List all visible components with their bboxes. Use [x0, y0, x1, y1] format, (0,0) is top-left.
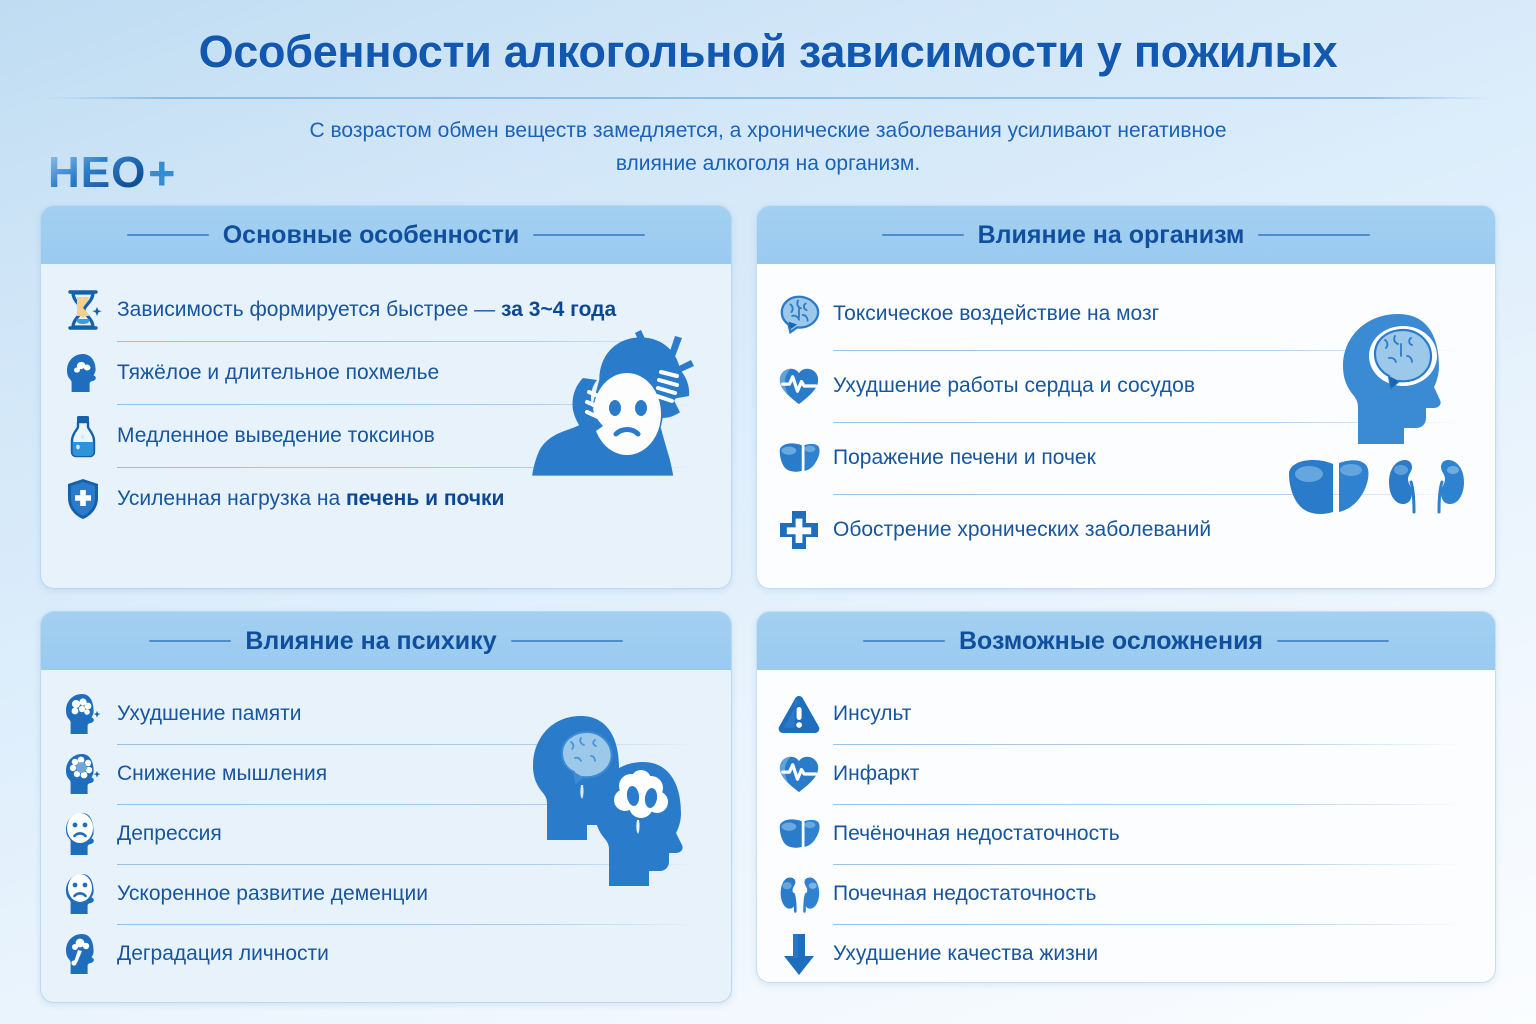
list-item-label: Усиленная нагрузка на печень и почки: [117, 486, 504, 511]
row-divider: [117, 924, 697, 925]
head-dementia-icon: [61, 871, 105, 917]
list-item[interactable]: Снижение мышления: [61, 744, 711, 804]
header-dash-right-icon: [533, 234, 645, 236]
heart-pulse-icon: [777, 751, 821, 797]
brand-logo: НЕО+: [48, 150, 176, 196]
card-osnovnye-osobennosti: Основные особенности Зависимость фор: [40, 205, 732, 589]
card-title: Влияние на психику: [245, 627, 496, 656]
page-subtitle: С возрастом обмен веществ замедляется, а…: [268, 115, 1268, 180]
list-item[interactable]: Ухудшение памяти: [61, 684, 711, 744]
row-divider: [833, 864, 1461, 865]
list-item-label: Печёночная недостаточность: [833, 821, 1120, 846]
head-memory-icon: [61, 691, 105, 737]
row-divider: [833, 422, 1461, 423]
list-item[interactable]: Зависимость формируется быстрее — за 3~4…: [61, 278, 711, 341]
head-sad-icon: [61, 811, 105, 857]
list-item-label: Токсическое воздействие на мозг: [833, 301, 1159, 326]
header-dash-left-icon: [127, 234, 209, 236]
card-header: Основные особенности: [41, 206, 731, 264]
medical-cross-icon: [777, 507, 821, 553]
shield-cross-icon: [61, 476, 105, 522]
list-item[interactable]: Депрессия: [61, 804, 711, 864]
list-item-label: Депрессия: [117, 821, 222, 846]
list-item[interactable]: Деградация личности: [61, 924, 711, 984]
row-divider: [117, 804, 697, 805]
card-body: Зависимость формируется быстрее — за 3~4…: [41, 264, 731, 588]
list-item-label: Снижение мышления: [117, 761, 327, 786]
list-item[interactable]: Почечная недостаточность: [777, 864, 1475, 924]
list-item-label: Ухудшение качества жизни: [833, 941, 1098, 966]
list-item[interactable]: Ухудшение качества жизни: [777, 924, 1475, 983]
list-item-label: Зависимость формируется быстрее — за 3~4…: [117, 297, 616, 322]
row-divider: [117, 864, 697, 865]
header-dash-left-icon: [863, 640, 945, 642]
list-item-label: Инфаркт: [833, 761, 919, 786]
liver-icon: [777, 811, 821, 857]
header-dash-right-icon: [511, 640, 623, 642]
card-title: Основные особенности: [223, 221, 520, 250]
head-hangover-icon: [61, 350, 105, 396]
row-divider: [117, 744, 697, 745]
flask-icon: [61, 413, 105, 459]
heart-pulse-icon: [777, 363, 821, 409]
list-item[interactable]: Токсическое воздействие на мозг: [777, 278, 1475, 350]
card-vliyanie-na-organizm: Влияние на организм Токсическое воздейст…: [756, 205, 1496, 589]
card-body: Инсульт Инфаркт: [757, 670, 1495, 982]
row-divider: [833, 494, 1461, 495]
card-header: Возможные осложнения: [757, 612, 1495, 670]
list-item[interactable]: Медленное выведение токсинов: [61, 404, 711, 467]
warning-triangle-icon: [777, 691, 821, 737]
list-item[interactable]: Ускоренное развитие деменции: [61, 864, 711, 924]
head-thinking-icon: [61, 751, 105, 797]
liver-icon: [777, 435, 821, 481]
row-divider: [117, 404, 697, 405]
row-divider: [117, 341, 697, 342]
list-item-label: Ухудшение памяти: [117, 701, 302, 726]
list-item-label: Деградация личности: [117, 941, 329, 966]
list-item[interactable]: Обострение хронических заболеваний: [777, 494, 1475, 566]
row-divider: [117, 467, 697, 468]
list-item-label: Обострение хронических заболеваний: [833, 517, 1211, 542]
row-divider: [833, 350, 1461, 351]
list-item[interactable]: Усиленная нагрузка на печень и почки: [61, 467, 711, 530]
header-dash-left-icon: [149, 640, 231, 642]
list-item-label: Медленное выведение токсинов: [117, 423, 435, 448]
header-divider: [48, 97, 1488, 99]
card-body: Токсическое воздействие на мозг Ухудшени…: [757, 264, 1495, 588]
logo-text: НЕО: [48, 151, 146, 195]
header-dash-left-icon: [882, 234, 964, 236]
list-item-label: Поражение печени и почек: [833, 445, 1096, 470]
page-header: Особенности алкогольной зависимости у по…: [0, 0, 1536, 78]
list-item-label: Ухудшение работы сердца и сосудов: [833, 373, 1195, 398]
list-item[interactable]: Поражение печени и почек: [777, 422, 1475, 494]
card-header: Влияние на психику: [41, 612, 731, 670]
header-dash-right-icon: [1277, 640, 1389, 642]
down-arrow-icon: [777, 931, 821, 977]
card-body: Ухудшение памяти: [41, 670, 731, 1002]
list-item[interactable]: Тяжёлое и длительное похмелье: [61, 341, 711, 404]
list-item[interactable]: Инсульт: [777, 684, 1475, 744]
hourglass-icon: [61, 287, 105, 333]
header-dash-right-icon: [1258, 234, 1370, 236]
card-header: Влияние на организм: [757, 206, 1495, 264]
card-title: Влияние на организм: [978, 221, 1245, 250]
list-item-label: Тяжёлое и длительное похмелье: [117, 360, 439, 385]
kidneys-icon: [777, 871, 821, 917]
row-divider: [833, 744, 1461, 745]
list-item-label: Ускоренное развитие деменции: [117, 881, 428, 906]
card-grid: Основные особенности Зависимость фор: [40, 205, 1496, 1003]
list-item[interactable]: Печёночная недостаточность: [777, 804, 1475, 864]
head-degradation-icon: [61, 931, 105, 977]
logo-plus-icon: +: [148, 150, 176, 196]
card-title: Возможные осложнения: [959, 627, 1263, 656]
row-divider: [833, 924, 1461, 925]
list-item[interactable]: Ухудшение работы сердца и сосудов: [777, 350, 1475, 422]
list-item-label: Почечная недостаточность: [833, 881, 1096, 906]
row-divider: [833, 804, 1461, 805]
list-item-label: Инсульт: [833, 701, 911, 726]
brain-icon: [777, 291, 821, 337]
card-vozmozhnye-oslozhneniya: Возможные осложнения Инсульт: [756, 611, 1496, 983]
page-title: Особенности алкогольной зависимости у по…: [0, 0, 1536, 78]
list-item[interactable]: Инфаркт: [777, 744, 1475, 804]
card-vliyanie-na-psihiku: Влияние на психику Ухудшение п: [40, 611, 732, 1003]
